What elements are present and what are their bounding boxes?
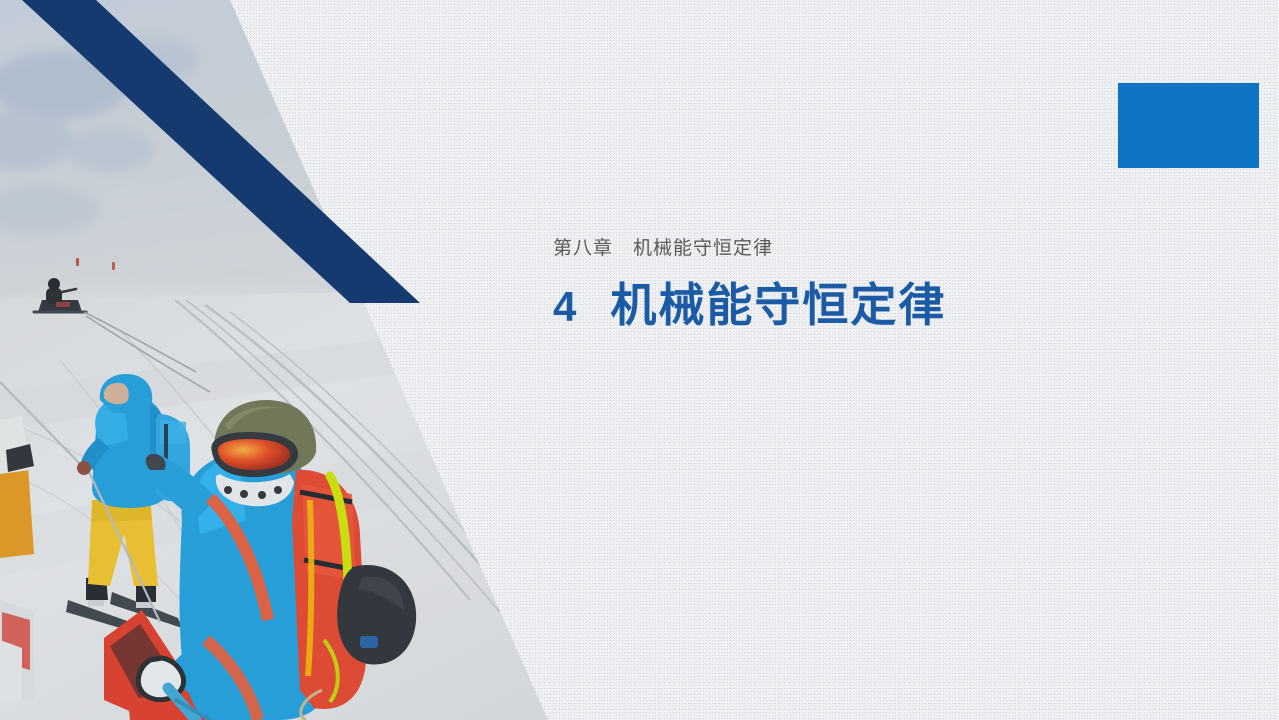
page-title: 4 机械能守恒定律: [553, 280, 1193, 332]
presentation-slide: 第八章 机械能守恒定律 4 机械能守恒定律: [0, 0, 1279, 720]
navy-diagonal-band: [0, 0, 440, 320]
section-number: 4: [553, 282, 576, 332]
section-title-text: 机械能守恒定律: [610, 280, 946, 330]
blue-accent-rectangle: [1118, 83, 1259, 168]
chapter-subtitle: 第八章 机械能守恒定律: [553, 236, 1193, 262]
slide-text-block: 第八章 机械能守恒定律 4 机械能守恒定律: [553, 236, 1193, 332]
